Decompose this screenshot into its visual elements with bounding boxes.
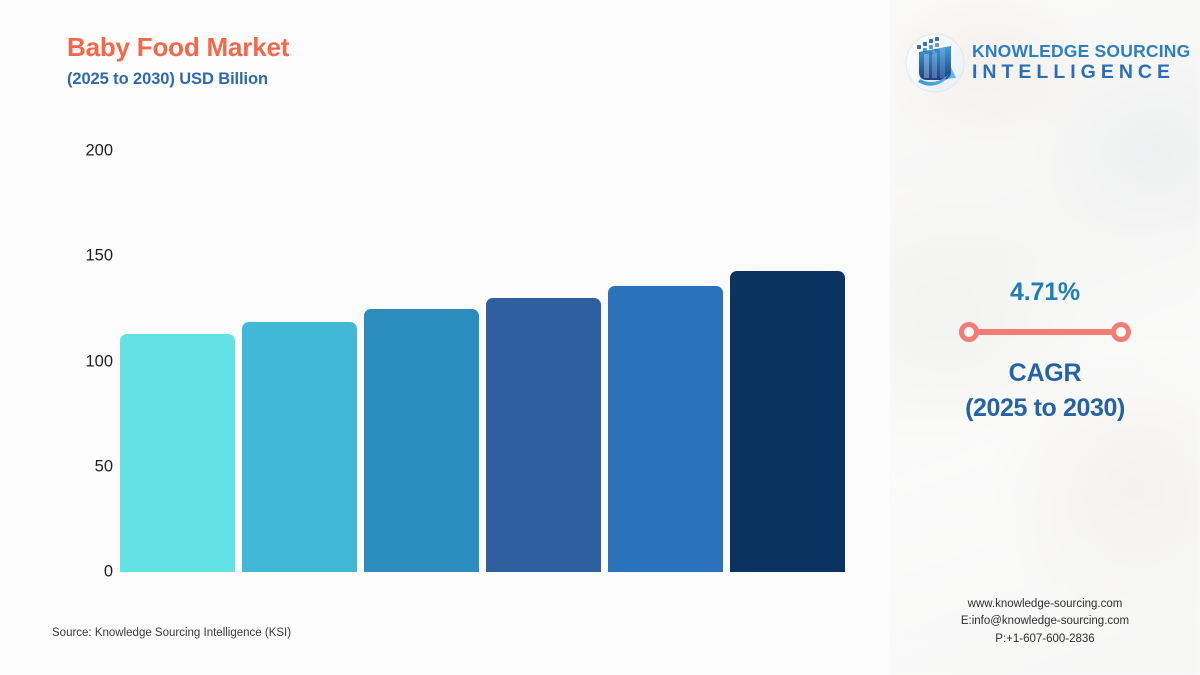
contact-phone: P:+1-607-600-2836	[890, 631, 1200, 648]
brand-logo-line1: KNOWLEDGE SOURCING	[972, 43, 1190, 61]
bar-chart-plot: 050100150200 202520262027202820292030	[0, 0, 890, 675]
y-axis-tick: 50	[55, 457, 113, 476]
bars-group: 202520262027202820292030	[120, 0, 850, 675]
y-axis-tick: 100	[55, 352, 113, 371]
y-axis-tick: 200	[55, 142, 113, 161]
y-axis-tick: 150	[55, 247, 113, 266]
cagr-connector-dot-left	[959, 322, 979, 342]
infographic-page: Baby Food Market (2025 to 2030) USD Bill…	[0, 0, 1200, 675]
brand-logo: KNOWLEDGE SOURCING INTELLIGENCE	[904, 28, 1190, 98]
cagr-connector-line	[971, 329, 1119, 335]
bar-2029[interactable]	[608, 286, 723, 572]
brand-logo-line2: INTELLIGENCE	[972, 63, 1190, 83]
source-note: Source: Knowledge Sourcing Intelligence …	[52, 627, 291, 639]
bar-2026[interactable]	[242, 322, 357, 572]
cagr-connector-icon	[959, 321, 1131, 343]
chart-panel: Baby Food Market (2025 to 2030) USD Bill…	[0, 0, 890, 675]
brand-logo-text: KNOWLEDGE SOURCING INTELLIGENCE	[972, 43, 1190, 83]
brand-panel: KNOWLEDGE SOURCING INTELLIGENCE 4.71% CA…	[890, 0, 1200, 675]
knowledge-sourcing-logo-icon	[904, 32, 966, 94]
cagr-connector-dot-right	[1111, 322, 1131, 342]
contact-website[interactable]: www.knowledge-sourcing.com	[890, 596, 1200, 613]
y-axis: 050100150200	[55, 0, 113, 675]
bar-2028[interactable]	[486, 298, 601, 572]
contact-block: www.knowledge-sourcing.com E:info@knowle…	[890, 596, 1200, 648]
cagr-period: (2025 to 2030)	[890, 394, 1200, 423]
cagr-value: 4.71%	[890, 278, 1200, 307]
contact-email[interactable]: E:info@knowledge-sourcing.com	[890, 613, 1200, 630]
y-axis-tick: 0	[55, 563, 113, 582]
cagr-block: 4.71% CAGR (2025 to 2030)	[890, 278, 1200, 423]
cagr-label: CAGR	[890, 359, 1200, 388]
bar-2025[interactable]	[120, 334, 235, 572]
bar-2030[interactable]	[730, 271, 845, 572]
bar-2027[interactable]	[364, 309, 479, 572]
